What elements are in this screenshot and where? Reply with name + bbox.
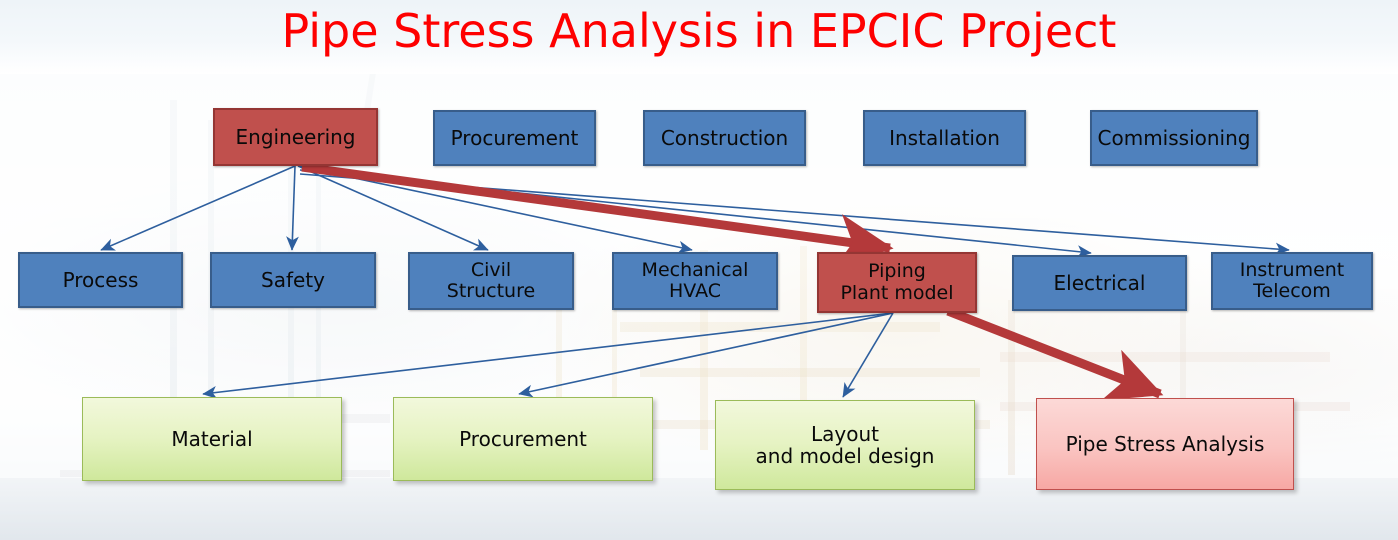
arrow-engineering-to-safety bbox=[292, 166, 295, 250]
node-installation[interactable]: Installation bbox=[863, 110, 1026, 166]
node-construction[interactable]: Construction bbox=[643, 110, 806, 166]
node-instrument[interactable]: Instrument Telecom bbox=[1211, 252, 1373, 310]
arrow-piping-to-layout bbox=[843, 313, 893, 397]
node-procurement[interactable]: Procurement bbox=[433, 110, 596, 166]
node-procurement-doc[interactable]: Procurement bbox=[393, 397, 653, 481]
node-pipe-stress[interactable]: Pipe Stress Analysis bbox=[1036, 398, 1294, 490]
slide-canvas: Pipe Stress Analysis in EPCIC Project bbox=[0, 0, 1398, 540]
arrows-from-engineering bbox=[101, 166, 1289, 253]
arrows-from-piping bbox=[203, 311, 1160, 397]
node-safety[interactable]: Safety bbox=[210, 252, 376, 308]
node-process[interactable]: Process bbox=[18, 252, 183, 308]
arrow-piping-to-pipe-stress bbox=[948, 311, 1160, 394]
arrow-piping-to-material bbox=[203, 313, 893, 394]
arrow-piping-to-procurement bbox=[519, 313, 893, 394]
node-commissioning[interactable]: Commissioning bbox=[1090, 110, 1258, 166]
node-engineering[interactable]: Engineering bbox=[213, 108, 378, 166]
node-mechanical[interactable]: Mechanical HVAC bbox=[612, 252, 778, 310]
node-civil[interactable]: Civil Structure bbox=[408, 252, 574, 310]
node-material[interactable]: Material bbox=[82, 397, 342, 481]
arrow-engineering-to-process bbox=[101, 166, 295, 250]
node-layout[interactable]: Layout and model design bbox=[715, 400, 975, 490]
node-piping[interactable]: Piping Plant model bbox=[817, 252, 977, 313]
node-electrical[interactable]: Electrical bbox=[1012, 255, 1187, 311]
